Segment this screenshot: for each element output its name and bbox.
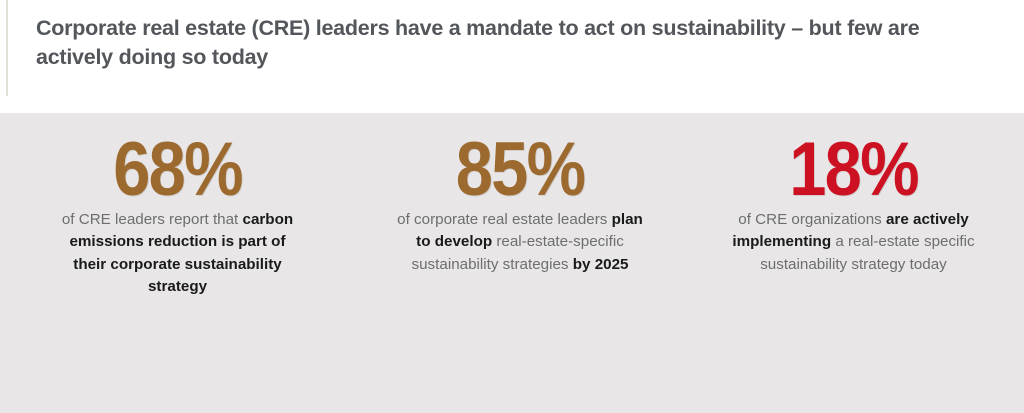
stat-caption-1-plain: of CRE leaders report that: [62, 211, 243, 228]
stat-figure-3: 18%: [723, 135, 984, 205]
stat-block-1: 68% of CRE leaders report that carbon em…: [0, 113, 355, 299]
stat-caption-1: of CRE leaders report that carbon emissi…: [53, 209, 303, 299]
stat-figure-1: 68%: [51, 135, 304, 205]
stat-figure-2: 85%: [387, 135, 653, 205]
stat-caption-3-plain-prefix: of CRE organizations: [738, 211, 886, 228]
stat-caption-2-plain-prefix: of corporate real estate leaders: [397, 211, 611, 228]
stat-caption-2: of corporate real estate leaders plan to…: [389, 209, 651, 277]
stat-block-2: 85% of corporate real estate leaders pla…: [355, 113, 685, 276]
page-title: Corporate real estate (CRE) leaders have…: [36, 14, 976, 72]
stat-caption-2-emphasis-2: by 2025: [573, 256, 629, 273]
stats-row: 68% of CRE leaders report that carbon em…: [0, 113, 1024, 413]
left-accent-rule: [6, 0, 8, 96]
stat-block-3: 18% of CRE organizations are actively im…: [685, 113, 1024, 276]
header-band: Corporate real estate (CRE) leaders have…: [0, 0, 1024, 113]
stats-panel: 68% of CRE leaders report that carbon em…: [0, 113, 1024, 413]
infographic-root: Corporate real estate (CRE) leaders have…: [0, 0, 1024, 413]
stat-caption-3: of CRE organizations are actively implem…: [730, 209, 978, 277]
